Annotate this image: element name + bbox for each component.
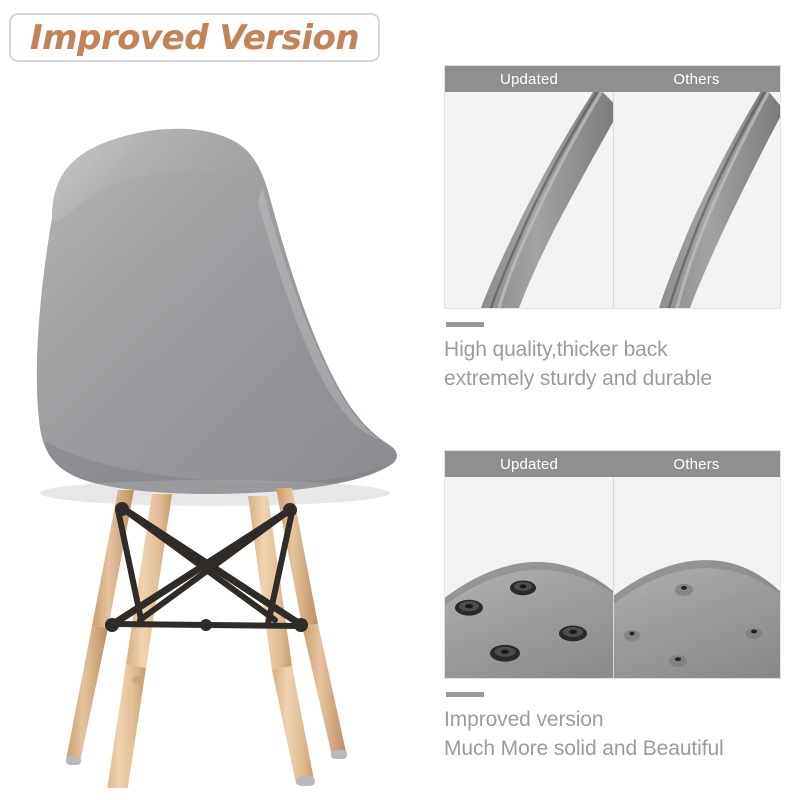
comparison-image-others bbox=[614, 92, 781, 308]
seat-underside-others-icon bbox=[614, 477, 781, 678]
product-hero-image bbox=[0, 68, 430, 788]
feature-block-seat-inserts: Updated Others bbox=[444, 450, 781, 763]
chair-shell bbox=[37, 129, 397, 494]
comparison-body bbox=[445, 92, 780, 308]
comparison-panel-seat-underside: Updated Others bbox=[444, 450, 781, 679]
feature-caption-line-1: High quality,thicker back bbox=[444, 335, 781, 364]
comparison-image-updated bbox=[445, 477, 613, 678]
improved-version-badge: Improved Version bbox=[9, 13, 380, 62]
feature-caption-line-2: extremely sturdy and durable bbox=[444, 364, 781, 393]
feature-caption-line-2: Much More solid and Beautiful bbox=[444, 734, 781, 763]
backrest-profile-others-icon bbox=[614, 92, 781, 308]
comparison-body bbox=[445, 477, 780, 678]
comparison-label-updated: Updated bbox=[445, 66, 613, 92]
comparison-label-updated: Updated bbox=[445, 451, 613, 477]
backrest-profile-updated-icon bbox=[445, 92, 613, 308]
comparison-divider bbox=[613, 92, 614, 308]
chair-illustration bbox=[0, 68, 430, 788]
comparison-label-others: Others bbox=[613, 66, 780, 92]
comparison-image-updated bbox=[445, 92, 613, 308]
comparison-divider bbox=[613, 477, 614, 678]
chair-legs bbox=[66, 488, 347, 788]
seat-contact-shadow bbox=[40, 480, 390, 506]
comparison-panel-backrest: Updated Others bbox=[444, 65, 781, 309]
comparison-header: Updated Others bbox=[445, 66, 780, 92]
chair-wire-strut bbox=[105, 502, 308, 632]
seat-underside-updated-icon bbox=[445, 477, 613, 678]
feature-block-backrest-thickness: Updated Others bbox=[444, 65, 781, 393]
feature-caption-line-1: Improved version bbox=[444, 705, 781, 734]
caption-accent-rule bbox=[446, 322, 484, 327]
comparison-image-others bbox=[614, 477, 781, 678]
comparison-label-others: Others bbox=[613, 451, 780, 477]
comparison-header: Updated Others bbox=[445, 451, 780, 477]
caption-accent-rule bbox=[446, 692, 484, 697]
improved-version-badge-label: Improved Version bbox=[30, 18, 359, 58]
